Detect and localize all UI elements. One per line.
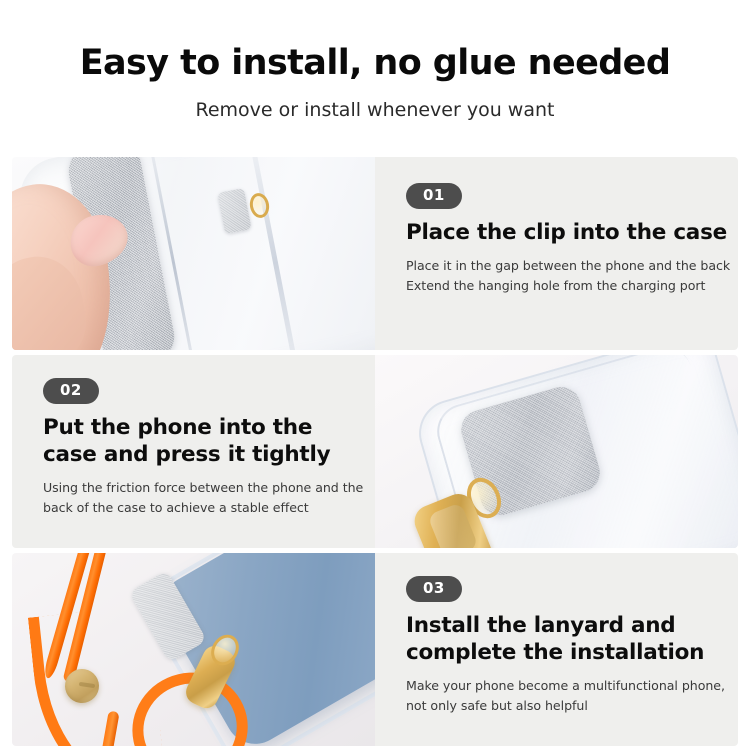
step-01-title: Place the clip into the case bbox=[406, 220, 738, 247]
step-02-title-line-2: case and press it tightly bbox=[43, 442, 375, 469]
page-subtitle: Remove or install whenever you want bbox=[0, 99, 750, 122]
step-03-photo bbox=[12, 553, 375, 746]
step-03-title-line-2: complete the installation bbox=[406, 640, 738, 667]
hand-holding-clip-illustration bbox=[12, 157, 375, 350]
step-row-01: 01 Place the clip into the case Place it… bbox=[12, 157, 738, 350]
page-title: Easy to install, no glue needed bbox=[0, 44, 750, 83]
step-02-photo bbox=[375, 355, 738, 548]
step-badge-03: 03 bbox=[406, 576, 462, 602]
step-03-title-line-1: Install the lanyard and bbox=[406, 613, 738, 640]
step-02-description: Using the friction force between the pho… bbox=[43, 478, 375, 519]
step-01-desc-line-2: Extend the hanging hole from the chargin… bbox=[406, 276, 738, 296]
lanyard-attached-illustration bbox=[12, 553, 375, 746]
step-02-title-line-1: Put the phone into the bbox=[43, 415, 375, 442]
infographic-page: Easy to install, no glue needed Remove o… bbox=[0, 0, 750, 750]
step-badge-01: 01 bbox=[406, 183, 462, 209]
page-header: Easy to install, no glue needed Remove o… bbox=[0, 0, 750, 122]
steps-container: 01 Place the clip into the case Place it… bbox=[12, 157, 738, 746]
step-01-photo bbox=[12, 157, 375, 350]
step-01-description: Place it in the gap between the phone an… bbox=[406, 256, 738, 297]
step-01-text: 01 Place the clip into the case Place it… bbox=[375, 157, 738, 350]
step-03-desc-line-2: not only safe but also helpful bbox=[406, 696, 738, 716]
step-02-desc-line-2: back of the case to achieve a stable eff… bbox=[43, 498, 375, 518]
step-03-title: Install the lanyard and complete the ins… bbox=[406, 613, 738, 667]
step-02-text: 02 Put the phone into the case and press… bbox=[12, 355, 375, 548]
step-badge-02: 02 bbox=[43, 378, 99, 404]
step-01-desc-line-1: Place it in the gap between the phone an… bbox=[406, 256, 738, 276]
step-03-description: Make your phone become a multifunctional… bbox=[406, 676, 738, 717]
step-03-desc-line-1: Make your phone become a multifunctional… bbox=[406, 676, 738, 696]
step-row-02: 02 Put the phone into the case and press… bbox=[12, 355, 738, 548]
clip-in-case-illustration bbox=[375, 355, 738, 548]
step-02-desc-line-1: Using the friction force between the pho… bbox=[43, 478, 375, 498]
step-03-text: 03 Install the lanyard and complete the … bbox=[375, 553, 738, 746]
step-row-03: 03 Install the lanyard and complete the … bbox=[12, 553, 738, 746]
step-02-title: Put the phone into the case and press it… bbox=[43, 415, 375, 469]
